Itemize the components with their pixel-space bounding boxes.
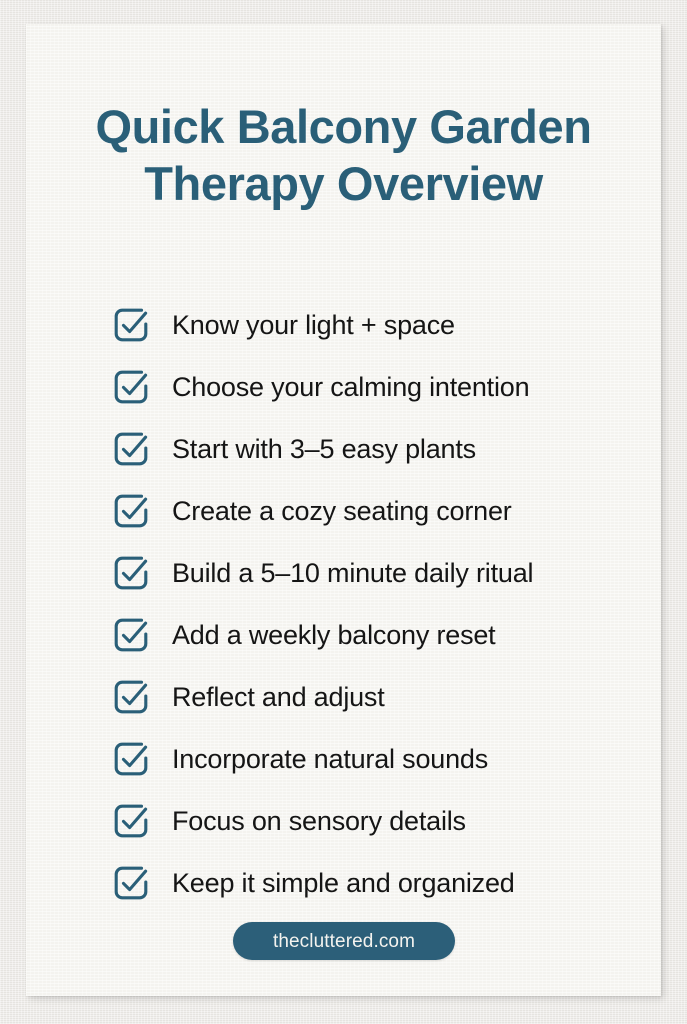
checked-checkbox-icon[interactable] <box>112 492 150 530</box>
checked-checkbox-icon[interactable] <box>112 802 150 840</box>
checklist-item-label: Incorporate natural sounds <box>172 743 488 776</box>
checklist-item[interactable]: Choose your calming intention <box>112 356 632 418</box>
checklist-item[interactable]: Keep it simple and organized <box>112 852 632 914</box>
infographic-card: Quick Balcony Garden Therapy Overview Kn… <box>26 24 661 996</box>
checklist-item-label: Reflect and adjust <box>172 681 385 714</box>
checklist-item[interactable]: Create a cozy seating corner <box>112 480 632 542</box>
checked-checkbox-icon[interactable] <box>112 740 150 778</box>
card-content: Quick Balcony Garden Therapy Overview Kn… <box>26 24 661 996</box>
checklist-item[interactable]: Start with 3–5 easy plants <box>112 418 632 480</box>
website-badge[interactable]: thecluttered.com <box>233 922 455 960</box>
checklist-item[interactable]: Build a 5–10 minute daily ritual <box>112 542 632 604</box>
page-title: Quick Balcony Garden Therapy Overview <box>26 98 661 212</box>
checklist-item[interactable]: Know your light + space <box>112 294 632 356</box>
page-title-line-2: Therapy Overview <box>50 155 637 212</box>
checklist-item[interactable]: Reflect and adjust <box>112 666 632 728</box>
checked-checkbox-icon[interactable] <box>112 430 150 468</box>
checklist-item-label: Keep it simple and organized <box>172 867 515 900</box>
checked-checkbox-icon[interactable] <box>112 368 150 406</box>
checklist-item-label: Create a cozy seating corner <box>172 495 512 528</box>
checked-checkbox-icon[interactable] <box>112 616 150 654</box>
checklist-item[interactable]: Incorporate natural sounds <box>112 728 632 790</box>
page-title-line-1: Quick Balcony Garden <box>50 98 637 155</box>
checklist-item-label: Build a 5–10 minute daily ritual <box>172 557 533 590</box>
checklist-item[interactable]: Focus on sensory details <box>112 790 632 852</box>
checklist-item-label: Choose your calming intention <box>172 371 529 404</box>
checklist-item[interactable]: Add a weekly balcony reset <box>112 604 632 666</box>
checked-checkbox-icon[interactable] <box>112 678 150 716</box>
checked-checkbox-icon[interactable] <box>112 306 150 344</box>
checklist: Know your light + space Choose your calm… <box>112 294 632 914</box>
checklist-item-label: Know your light + space <box>172 309 455 342</box>
checklist-item-label: Add a weekly balcony reset <box>172 619 495 652</box>
website-badge-label: thecluttered.com <box>273 932 415 951</box>
checked-checkbox-icon[interactable] <box>112 554 150 592</box>
checklist-item-label: Start with 3–5 easy plants <box>172 433 476 466</box>
checklist-item-label: Focus on sensory details <box>172 805 466 838</box>
checked-checkbox-icon[interactable] <box>112 864 150 902</box>
